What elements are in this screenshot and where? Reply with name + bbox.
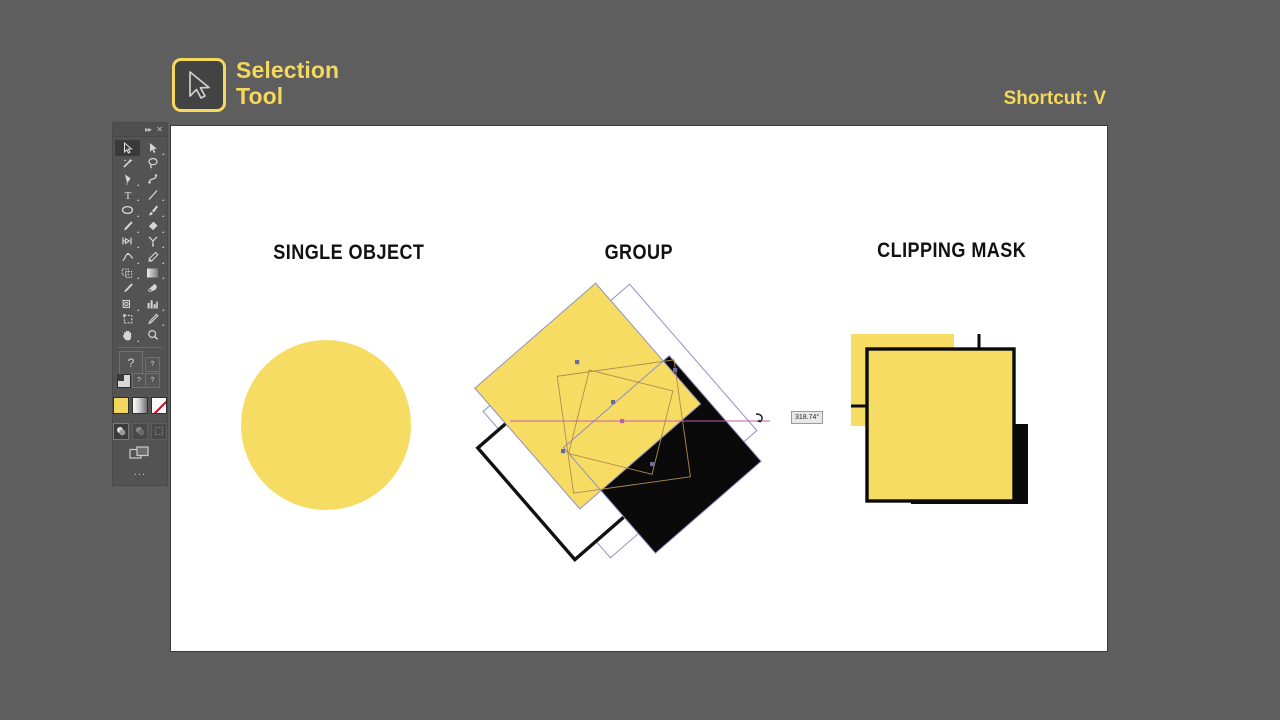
draw-modes <box>113 423 167 441</box>
clip-masked-square <box>867 349 1014 501</box>
svg-text:r: r <box>122 298 123 302</box>
tool-type-tool[interactable]: T <box>115 187 140 203</box>
help-sub-b-button[interactable]: ? <box>145 373 160 388</box>
tool-pen-tool[interactable] <box>115 171 140 187</box>
clipping-mask-artwork[interactable] <box>836 316 1046 531</box>
tools-panel-header: ▸▸ ✕ <box>113 123 167 137</box>
help-button[interactable]: ? <box>119 351 143 375</box>
tool-scale-tool[interactable] <box>140 234 165 250</box>
double-chevron-icon[interactable]: ▸▸ <box>145 125 151 134</box>
tool-rotate-tool[interactable] <box>115 234 140 250</box>
screen-mode-icon <box>129 446 151 462</box>
toolbar-divider <box>118 347 162 348</box>
tool-selection-tool[interactable] <box>115 140 140 156</box>
draw-behind-button[interactable] <box>132 423 148 440</box>
tool-grid: T <box>113 137 167 343</box>
close-icon[interactable]: ✕ <box>156 125 163 134</box>
none-swatch[interactable] <box>151 397 167 414</box>
gradient-swatch[interactable] <box>132 397 148 414</box>
tool-free-transform-tool[interactable] <box>140 249 165 265</box>
tool-width-tool[interactable] <box>115 249 140 265</box>
tool-slice-tool[interactable] <box>140 312 165 328</box>
label-group: GROUP <box>605 241 673 265</box>
tool-hand-tool[interactable] <box>115 327 140 343</box>
tool-direct-selection-tool[interactable] <box>140 140 165 156</box>
toolbar-help-group: ? ? ? ? <box>117 351 163 395</box>
page-title-line2: Tool <box>236 83 536 109</box>
tool-line-segment-tool[interactable] <box>140 187 165 203</box>
selection-tool-badge <box>172 58 226 112</box>
tool-ellipse-tool[interactable] <box>115 202 140 218</box>
fill-stroke-indicator[interactable] <box>117 374 131 388</box>
tool-artboard-tool[interactable] <box>115 312 140 328</box>
help-sub-a-button[interactable]: ? <box>145 357 160 372</box>
color-swatches <box>113 397 167 419</box>
app-screen: Selection Tool Shortcut: V ▸▸ ✕ <box>0 0 1280 720</box>
help-sub-c-button[interactable]: ? <box>132 373 146 388</box>
tool-eraser-tool[interactable] <box>140 218 165 234</box>
tool-perspective-grid-tool[interactable] <box>140 265 165 281</box>
tool-magic-wand-tool[interactable] <box>115 156 140 172</box>
group-artwork[interactable] <box>460 276 780 576</box>
tool-lasso-tool[interactable] <box>140 156 165 172</box>
shortcut-label: Shortcut: V <box>1004 88 1106 110</box>
tool-curvature-tool[interactable] <box>140 171 165 187</box>
svg-text:T: T <box>124 190 131 201</box>
tool-column-graph-tool[interactable] <box>140 296 165 312</box>
label-single-object: SINGLE OBJECT <box>273 241 424 265</box>
screen-mode-button[interactable] <box>113 441 167 467</box>
tool-shape-builder-tool[interactable] <box>115 265 140 281</box>
rotation-angle-tooltip: 318.74° <box>791 411 823 424</box>
single-object-circle[interactable] <box>241 340 411 510</box>
draw-normal-button[interactable] <box>113 423 129 440</box>
fill-color-swatch[interactable] <box>113 397 129 414</box>
tool-mesh-tool[interactable] <box>115 280 140 296</box>
tool-gradient-tool[interactable] <box>140 280 165 296</box>
draw-inside-button[interactable] <box>151 423 167 440</box>
tool-zoom-tool[interactable] <box>140 327 165 343</box>
page-title-line1: Selection <box>236 57 339 83</box>
tool-pencil-tool[interactable] <box>115 218 140 234</box>
page-title: Selection Tool <box>236 57 536 109</box>
cursor-arrow-icon <box>184 69 214 101</box>
tool-paintbrush-tool[interactable] <box>140 202 165 218</box>
toolbar-overflow-button[interactable]: ... <box>113 467 167 483</box>
artboard-canvas: SINGLE OBJECT GROUP CLIPPING MASK <box>171 126 1107 651</box>
label-clipping-mask: CLIPPING MASK <box>877 239 1026 263</box>
tools-panel: ▸▸ ✕ <box>112 122 168 486</box>
tool-eyedropper-tool[interactable]: r <box>115 296 140 312</box>
